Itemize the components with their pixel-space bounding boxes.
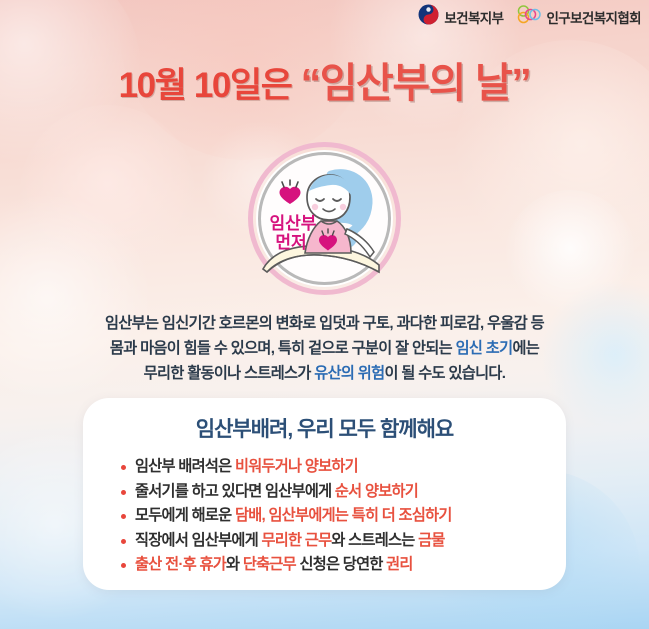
title-quoted-part: “임산부의 날” (301, 60, 531, 106)
intro-line-3: 무리한 활동이나 스트레스가 유산의 위험이 될 수도 있습니다. (0, 361, 649, 386)
list-item: 모두에게 해로운 담배, 임산부에게는 특히 더 조심하기 (121, 504, 566, 529)
intro-line-1: 임산부는 임신기간 호르몬의 변화로 입덧과 구토, 과다한 피로감, 우울감 … (0, 311, 649, 336)
care-tips-card: 임산부배려, 우리 모두 함께해요 임산부 배려석은 비워두거나 양보하기 줄서… (83, 398, 566, 590)
tip-5-emphasis-1: 출산 전·후 휴가 (135, 556, 226, 573)
ministry-of-health-label: 보건복지부 (444, 7, 503, 27)
page-title: 10월 10일은“임산부의 날” (0, 63, 649, 104)
tip-2-emphasis: 순서 양보하기 (335, 483, 418, 500)
intro-paragraph: 임산부는 임신기간 호르몬의 변화로 입덧과 구토, 과다한 피로감, 우울감 … (0, 311, 649, 386)
poster-canvas: 보건복지부 인구보건복지협회 10월 10일은“임산부의 날” (0, 0, 649, 629)
tip-3-emphasis: 담배, 임산부에게는 특히 더 조심하기 (235, 507, 452, 524)
tip-3-text-a: 모두에게 해로운 (135, 507, 235, 524)
bokeh-circle (20, 105, 195, 280)
intro-highlight-early-pregnancy: 임신 초기 (456, 340, 513, 357)
population-federation-label: 인구보건복지협회 (546, 7, 641, 27)
tip-1-emphasis: 비워두거나 양보하기 (235, 458, 358, 475)
organization-logo-bar: 보건복지부 인구보건복지협회 (418, 4, 641, 30)
care-card-heading: 임산부배려, 우리 모두 함께해요 (83, 413, 566, 443)
tip-5-emphasis-3: 권리 (386, 556, 413, 573)
list-item: 출산 전·후 휴가와 단축근무 신청은 당연한 권리 (121, 553, 566, 578)
badge-line1: 임산부 (270, 213, 317, 233)
intro-line-2-text-b: 에는 (512, 340, 539, 357)
intro-highlight-miscarriage-risk: 유산의 위험 (314, 365, 384, 382)
tip-5-emphasis-2: 단축근무 (243, 556, 296, 573)
list-item: 줄서기를 하고 있다면 임산부에게 순서 양보하기 (121, 480, 566, 505)
interlocking-rings-icon (517, 4, 541, 30)
tip-5-text-a: 와 (226, 556, 243, 573)
tip-4-emphasis-1: 무리한 근무 (262, 532, 332, 549)
taegeuk-icon (418, 4, 439, 30)
list-item: 직장에서 임산부에게 무리한 근무와 스트레스는 금물 (121, 529, 566, 554)
intro-line-3-text-a: 무리한 활동이나 스트레스가 (144, 365, 315, 382)
badge-line2: 먼저 (275, 233, 306, 252)
tip-2-text-a: 줄서기를 하고 있다면 임산부에게 (135, 483, 335, 500)
badge-illustration: 임산부 먼저 (247, 141, 402, 296)
title-date-part: 10월 10일은 (119, 66, 292, 105)
bokeh-circle (505, 190, 635, 320)
intro-line-3-text-b: 이 될 수도 있습니다. (384, 365, 505, 382)
list-item: 임산부 배려석은 비워두거나 양보하기 (121, 455, 566, 480)
pregnant-women-first-badge: 임산부 먼저 (247, 141, 402, 296)
title-block: 10월 10일은“임산부의 날” (0, 63, 649, 104)
care-tips-list: 임산부 배려석은 비워두거나 양보하기 줄서기를 하고 있다면 임산부에게 순서… (83, 455, 566, 578)
ministry-of-health-logo: 보건복지부 (418, 4, 503, 30)
tip-4-emphasis-2: 금물 (418, 532, 445, 549)
tip-5-text-b: 신청은 당연한 (296, 556, 386, 573)
population-federation-logo: 인구보건복지협회 (517, 4, 641, 30)
intro-line-2-text-a: 몸과 마음이 힘들 수 있으며, 특히 겉으로 구분이 잘 안되는 (110, 340, 456, 357)
tip-1-text-a: 임산부 배려석은 (135, 458, 235, 475)
tip-4-text-b: 와 스트레스는 (331, 532, 418, 549)
intro-line-1-text: 임산부는 임신기간 호르몬의 변화로 입덧과 구토, 과다한 피로감, 우울감 … (105, 315, 544, 332)
tip-4-text-a: 직장에서 임산부에게 (135, 532, 262, 549)
intro-line-2: 몸과 마음이 힘들 수 있으며, 특히 겉으로 구분이 잘 안되는 임신 초기에… (0, 336, 649, 361)
